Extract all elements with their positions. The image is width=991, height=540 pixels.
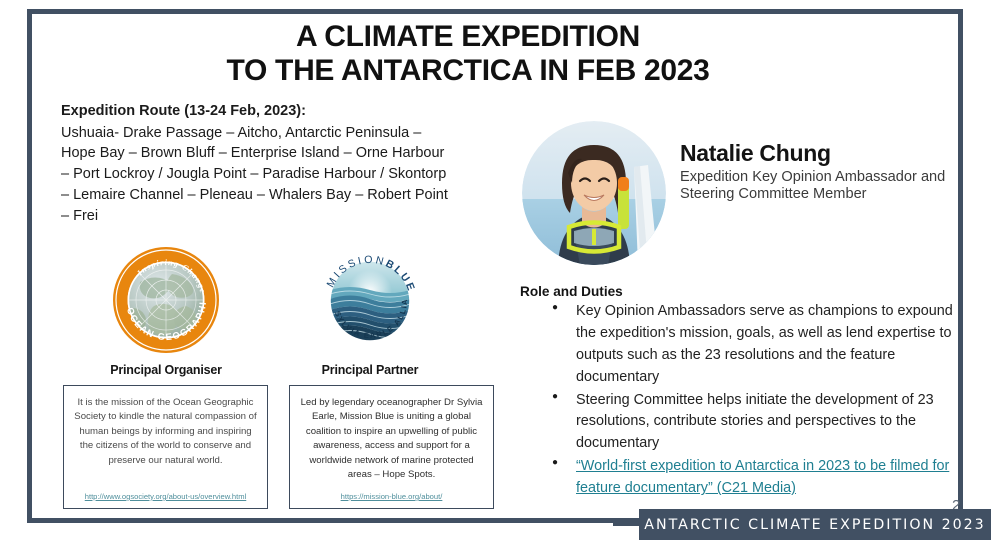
mission-blue-logo: MISSION BLUE SYLVIA EARLE ALLIANCE	[314, 244, 426, 356]
role-and-duties-section: Role and Duties Key Opinion Ambassadors …	[520, 284, 960, 501]
footer-banner-text: ANTARCTIC CLIMATE EXPEDITION 2023	[644, 517, 985, 533]
list-item: Steering Committee helps initiate the de…	[558, 390, 960, 456]
ocean-geographic-society-description-box: It is the mission of the Ocean Geographi…	[63, 385, 268, 509]
principal-organiser-label: Principal Organiser	[86, 363, 246, 377]
banner-tick-decoration	[613, 523, 641, 526]
duty-text: Key Opinion Ambassadors serve as champio…	[576, 303, 953, 385]
title-line-2: TO THE ANTARCTICA IN FEB 2023	[40, 54, 896, 88]
mb-website-link[interactable]: https://mission-blue.org/about/	[290, 492, 493, 501]
list-item: Key Opinion Ambassadors serve as champio…	[558, 301, 960, 389]
og-website-link[interactable]: http://www.ogsociety.org/about-us/overvi…	[64, 492, 267, 501]
footer-banner: ANTARCTIC CLIMATE EXPEDITION 2023	[639, 509, 991, 540]
expedition-route-block: Expedition Route (13-24 Feb, 2023): Ushu…	[61, 101, 451, 227]
principal-partner-label: Principal Partner	[290, 363, 450, 377]
list-item-link[interactable]: “World-first expedition to Antarctica in…	[558, 456, 960, 500]
news-article-link[interactable]: “World-first expedition to Antarctica in…	[576, 458, 949, 496]
title-line-1: A CLIMATE EXPEDITION	[296, 20, 640, 53]
expedition-route-heading: Expedition Route (13-24 Feb, 2023):	[61, 101, 451, 122]
principal-partner-block: MISSION BLUE SYLVIA EARLE ALLIANCE Princ…	[290, 244, 450, 377]
mission-blue-description-box: Led by legendary oceanographer Dr Sylvia…	[289, 385, 494, 509]
duty-text: Steering Committee helps initiate the de…	[576, 392, 934, 452]
person-info: Natalie Chung Expedition Key Opinion Amb…	[680, 140, 965, 203]
slide-canvas: A CLIMATE EXPEDITION TO THE ANTARCTICA I…	[0, 0, 991, 540]
avatar	[522, 121, 666, 265]
ocean-geographic-society-logo: Inspiring Change OCEAN GEOGRAPHIC SOCIET…	[110, 244, 222, 356]
person-name: Natalie Chung	[680, 140, 965, 167]
role-and-duties-heading: Role and Duties	[520, 284, 960, 299]
og-description-text: It is the mission of the Ocean Geographi…	[73, 396, 258, 468]
expedition-route-body: Ushuaia- Drake Passage – Aitcho, Antarct…	[61, 123, 451, 227]
duties-list: Key Opinion Ambassadors serve as champio…	[520, 301, 960, 500]
person-role: Expedition Key Opinion Ambassador and St…	[680, 169, 965, 203]
principal-organiser-block: Inspiring Change OCEAN GEOGRAPHIC SOCIET…	[86, 244, 246, 377]
page-title: A CLIMATE EXPEDITION TO THE ANTARCTICA I…	[40, 20, 896, 87]
mb-description-text: Led by legendary oceanographer Dr Sylvia…	[299, 396, 484, 482]
